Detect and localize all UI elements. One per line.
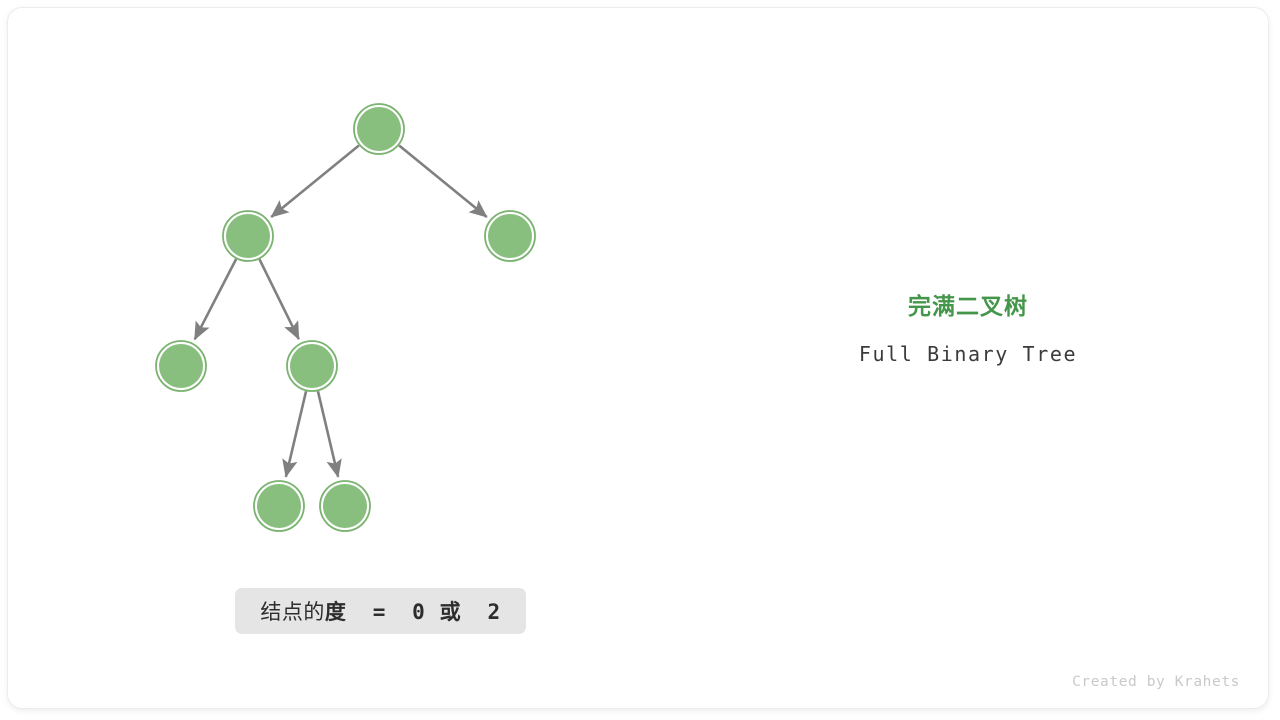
tree-node-disc — [290, 344, 334, 388]
tree-node — [156, 341, 206, 391]
title-english: Full Binary Tree — [768, 341, 1168, 367]
degree-label-equals — [346, 600, 372, 624]
diagram-stage: 完满二叉树 Full Binary Tree 结点的度 = 0 或 2 Crea… — [0, 0, 1280, 720]
tree-node — [223, 211, 273, 261]
title-chinese: 完满二叉树 — [768, 292, 1168, 322]
degree-label-prefix: 结点的 — [260, 600, 325, 624]
degree-label-space-1 — [386, 600, 412, 624]
credit-text: Created by Krahets — [0, 674, 1240, 690]
caption-block: 完满二叉树 Full Binary Tree — [768, 292, 1168, 367]
degree-label-text: 结点的度 = 0 或 2 — [260, 596, 500, 626]
degree-label-equals-sign: = — [373, 600, 386, 624]
tree-edge — [259, 259, 298, 339]
degree-label-value-b: 2 — [487, 600, 500, 624]
tree-node-disc — [226, 214, 270, 258]
degree-label-value-a: 0 — [412, 600, 425, 624]
tree-node-disc — [323, 484, 367, 528]
tree-edge — [195, 259, 236, 339]
tree-edge — [286, 391, 306, 476]
tree-node-disc — [357, 107, 401, 151]
degree-label-box: 结点的度 = 0 或 2 — [235, 588, 526, 634]
degree-label-keyword: 度 — [325, 600, 347, 624]
tree-node — [287, 341, 337, 391]
tree-node — [354, 104, 404, 154]
tree-node — [485, 211, 535, 261]
tree-edge — [318, 391, 338, 476]
degree-label-conjunction: 或 — [440, 600, 462, 624]
degree-label-space-3 — [461, 600, 487, 624]
degree-label-space-2 — [425, 600, 439, 624]
tree-edge — [271, 145, 359, 217]
node-layer — [156, 104, 535, 531]
tree-node-disc — [488, 214, 532, 258]
tree-node — [320, 481, 370, 531]
tree-node-disc — [159, 344, 203, 388]
tree-node — [254, 481, 304, 531]
tree-edge — [399, 145, 487, 217]
tree-node-disc — [257, 484, 301, 528]
edge-layer — [195, 145, 487, 476]
